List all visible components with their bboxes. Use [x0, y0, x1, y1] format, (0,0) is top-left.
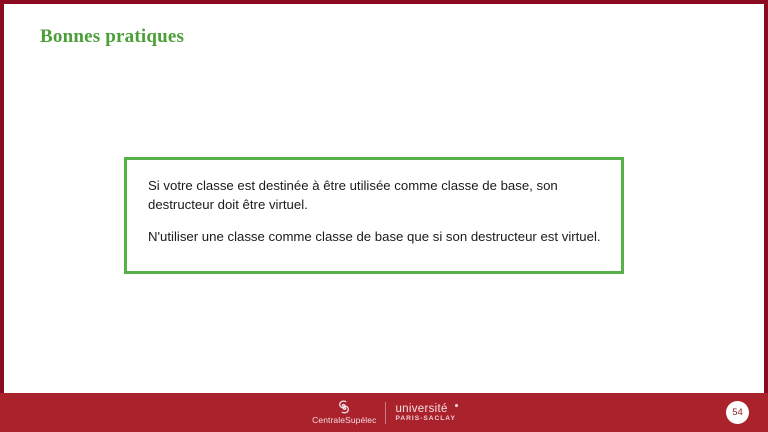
universite-paris-saclay-logo: université PARIS-SACLAY [386, 403, 455, 423]
slide-frame-right [764, 0, 768, 432]
highlight-box: Si votre classe est destinée à être util… [124, 157, 624, 274]
centralesupelec-logo: CentraleSupélec [312, 400, 385, 425]
page-title: Bonnes pratiques [40, 26, 184, 48]
slide-canvas: Bonnes pratiques Si votre classe est des… [0, 0, 768, 432]
highlight-box-paragraph: Si votre classe est destinée à être util… [148, 176, 601, 214]
page-number-badge: 54 [726, 401, 749, 424]
footer-logo-group: CentraleSupélec université PARIS-SACLAY [0, 393, 768, 432]
centralesupelec-logo-label: CentraleSupélec [312, 415, 376, 425]
universite-label: université [395, 403, 447, 415]
paris-saclay-label: PARIS-SACLAY [395, 415, 455, 423]
slide-frame-left [0, 0, 4, 432]
highlight-box-paragraph: N'utiliser une classe comme classe de ba… [148, 227, 601, 246]
centralesupelec-swirl-icon [335, 400, 353, 414]
slide-frame-top [0, 0, 768, 4]
universite-dot-icon [455, 404, 458, 407]
